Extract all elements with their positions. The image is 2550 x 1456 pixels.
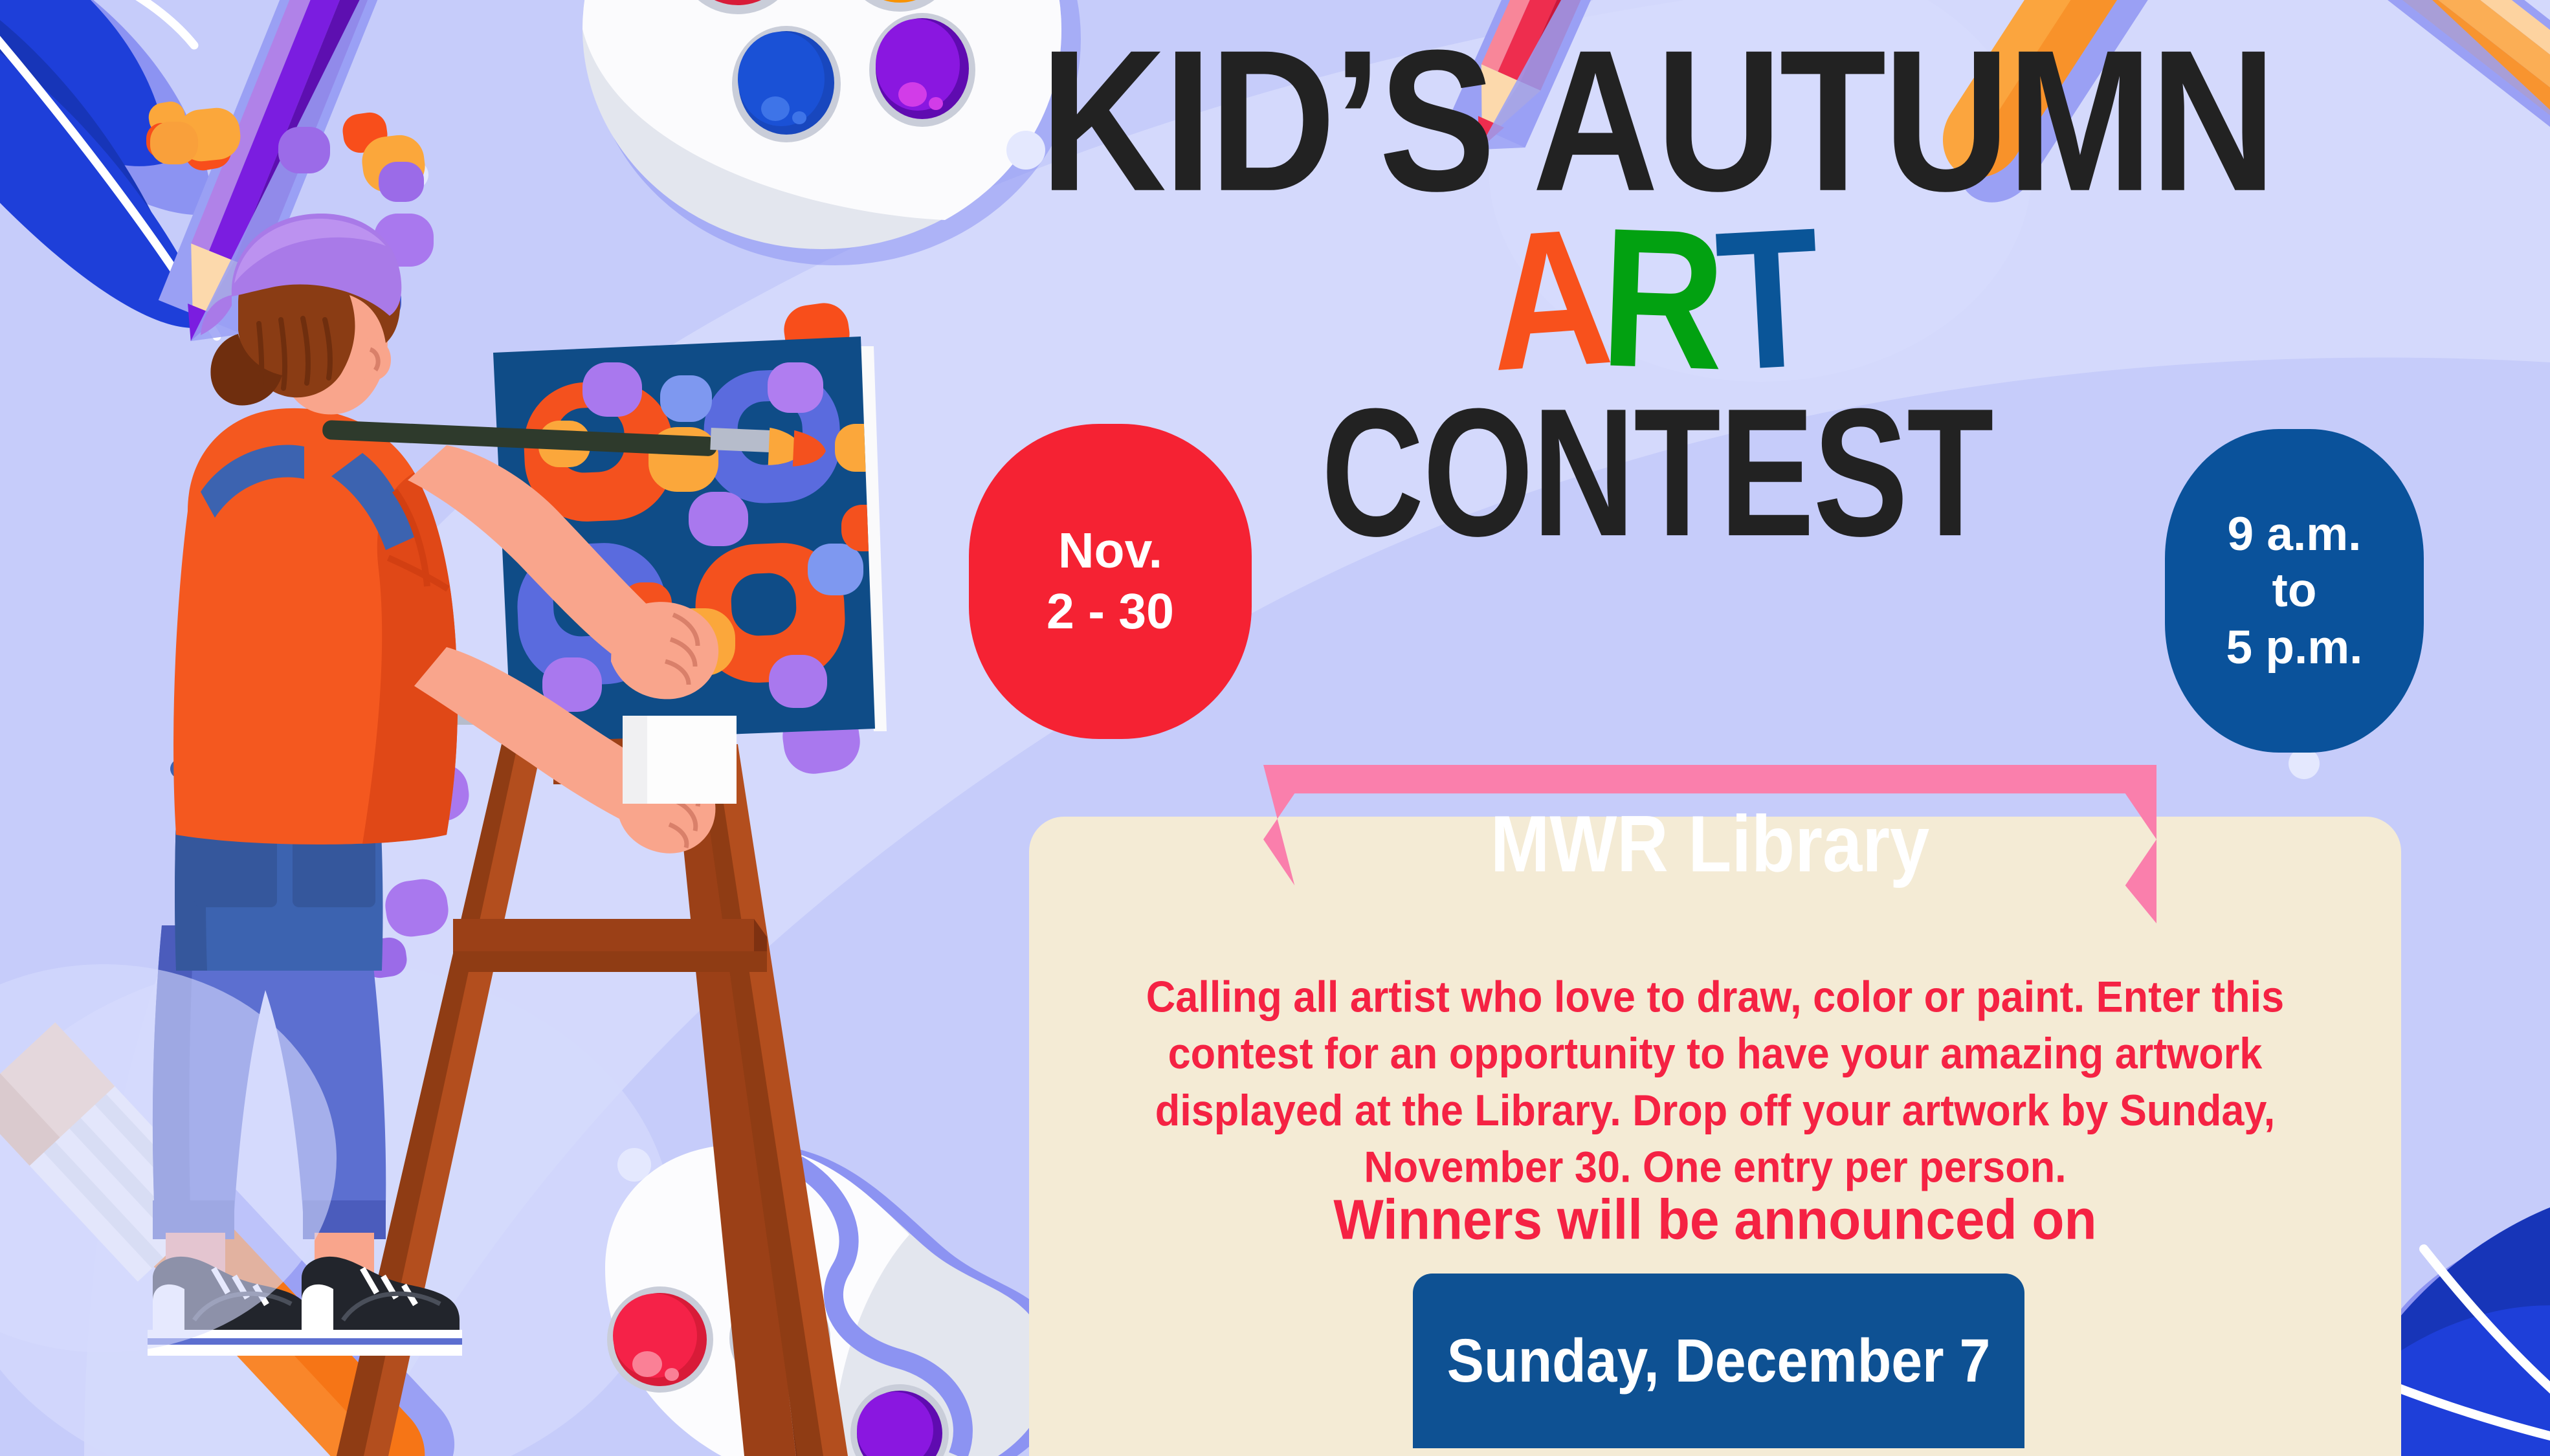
time-badge-separator: to	[2272, 562, 2317, 619]
palette-well-purple	[869, 13, 975, 127]
location-banner-text-wrap: MWR Library	[1263, 765, 2156, 923]
hand-with-paintbrush	[611, 602, 718, 699]
description-line-1: Calling all artist who love to draw, col…	[1081, 969, 2349, 1026]
time-badge: 9 a.m. to 5 p.m.	[2165, 429, 2424, 753]
date-badge: Nov. 2 - 30	[969, 424, 1252, 739]
description-line-2: contest for an opportunity to have your …	[1081, 1026, 2349, 1083]
announcement-date: Sunday, December 7	[1447, 1326, 1991, 1396]
location-label: MWR Library	[1491, 798, 1929, 890]
date-badge-month: Nov.	[1058, 521, 1162, 582]
background-dot-3	[2289, 748, 2320, 779]
palette-well-red-bottom	[607, 1286, 713, 1393]
date-badge-days: 2 - 30	[1047, 582, 1174, 643]
description-line-4: November 30. One entry per person.	[1081, 1140, 2349, 1197]
description-line-3: displayed at the Library. Drop off your …	[1081, 1083, 2349, 1140]
poster-canvas: KID’S AUTUMN ART CONTEST Nov. 2 - 30 9 a…	[0, 0, 2550, 1456]
announcement-date-chip: Sunday, December 7	[1413, 1274, 2024, 1448]
description-text: Calling all artist who love to draw, col…	[1081, 969, 2349, 1196]
palette-well-blue	[732, 26, 841, 142]
time-badge-start: 9 a.m.	[2228, 506, 2362, 563]
winners-announcement-text: Winners will be announced on	[1081, 1189, 2349, 1252]
time-badge-end: 5 p.m.	[2226, 619, 2363, 676]
